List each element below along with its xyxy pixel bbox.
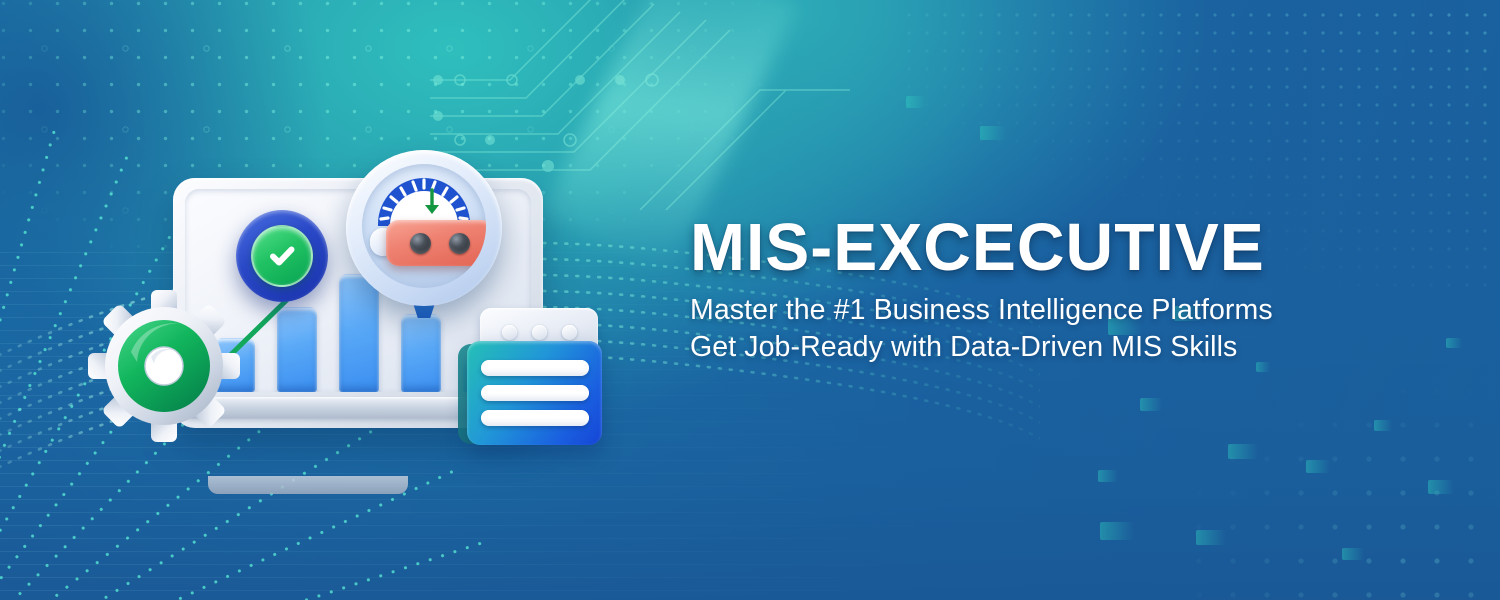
hero-illustration: [88, 150, 628, 480]
header-dot: [562, 325, 577, 340]
ai-robot-gauge: [346, 150, 502, 318]
robot-dish: [362, 164, 486, 288]
down-arrow-icon: [422, 188, 442, 218]
subheadline-group: Master the #1 Business Intelligence Plat…: [690, 292, 1420, 366]
list-row: [481, 360, 589, 376]
robot-eye: [410, 233, 431, 254]
list-row: [481, 410, 589, 426]
monitor-stand-foot: [208, 476, 408, 494]
header-dot: [502, 325, 517, 340]
report-list-card: [458, 308, 602, 450]
subheadline-line-2: Get Job-Ready with Data-Driven MIS Skill…: [690, 329, 1420, 366]
verified-check-badge: [236, 210, 328, 302]
robot-outer-ring: [346, 150, 502, 306]
settings-gear-icon: [88, 290, 240, 442]
banner-text-block: MIS-EXCECUTIVE Master the #1 Business In…: [690, 214, 1420, 366]
list-row: [481, 385, 589, 401]
header-dot: [532, 325, 547, 340]
check-badge-inner: [251, 225, 313, 287]
list-card-body: [467, 341, 602, 445]
subheadline-line-1: Master the #1 Business Intelligence Plat…: [690, 292, 1420, 329]
page-title: MIS-EXCECUTIVE: [690, 214, 1409, 282]
robot-visor: [386, 220, 486, 266]
marketing-banner: MIS-EXCECUTIVE Master the #1 Business In…: [0, 0, 1500, 600]
check-icon: [265, 239, 299, 273]
robot-eye: [449, 233, 470, 254]
